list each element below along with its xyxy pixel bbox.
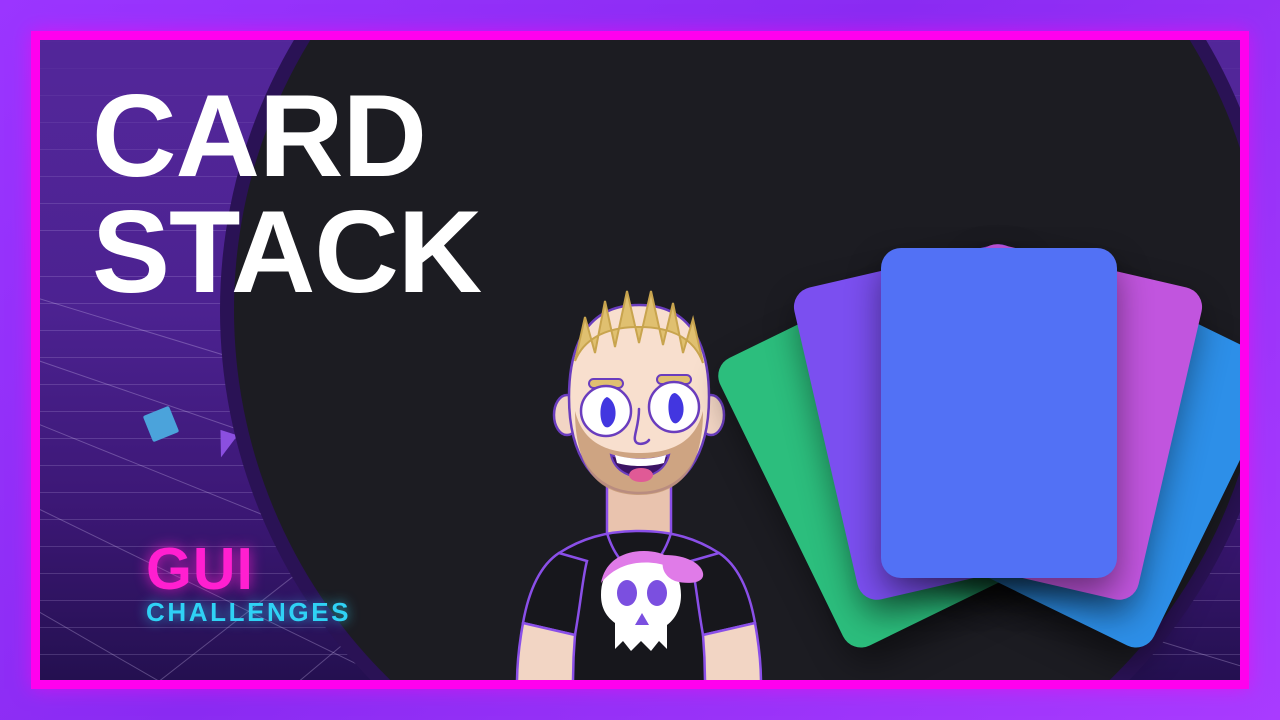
series-logo: GUI CHALLENGES bbox=[146, 542, 351, 625]
mascot-illustration bbox=[489, 283, 789, 680]
thumbnail-stage: CARD STACK GUI CHALLENGES bbox=[0, 0, 1280, 720]
inner-panel: CARD STACK GUI CHALLENGES bbox=[40, 40, 1240, 680]
page-title: CARD STACK bbox=[92, 78, 712, 310]
logo-gui-text: GUI bbox=[146, 542, 351, 596]
card-front bbox=[881, 248, 1117, 578]
logo-challenges-text: CHALLENGES bbox=[146, 599, 351, 625]
mascot-avatar bbox=[489, 283, 789, 680]
card-stack bbox=[735, 230, 1240, 650]
